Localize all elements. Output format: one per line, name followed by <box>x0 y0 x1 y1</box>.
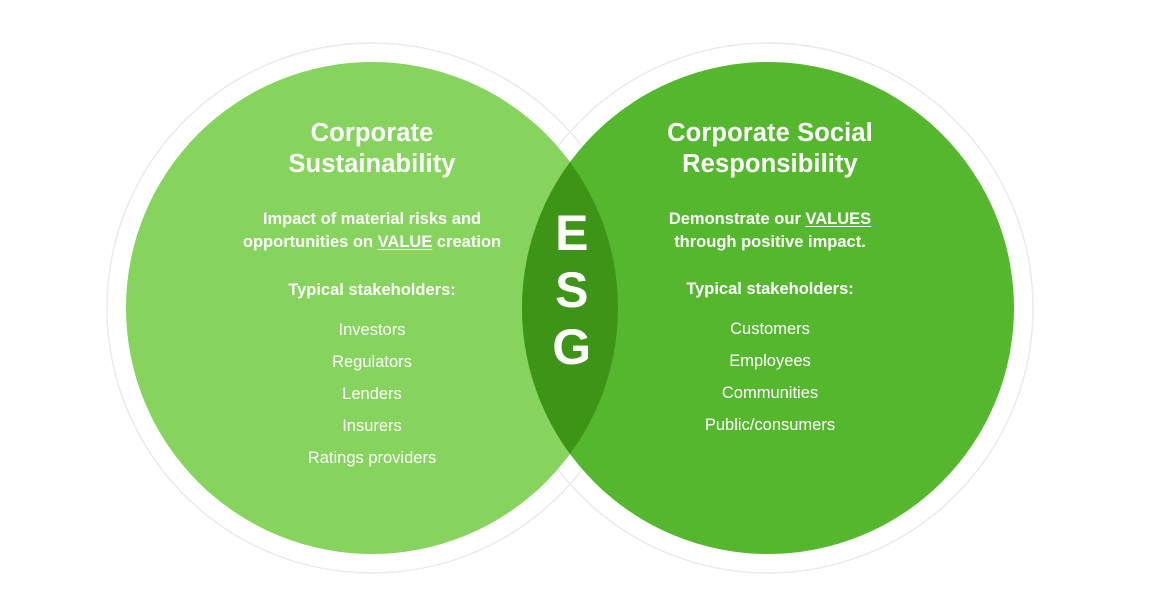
esg-venn-diagram: Corporate Sustainability Impact of mater… <box>0 0 1157 595</box>
venn-diagram-canvas <box>0 0 1157 595</box>
